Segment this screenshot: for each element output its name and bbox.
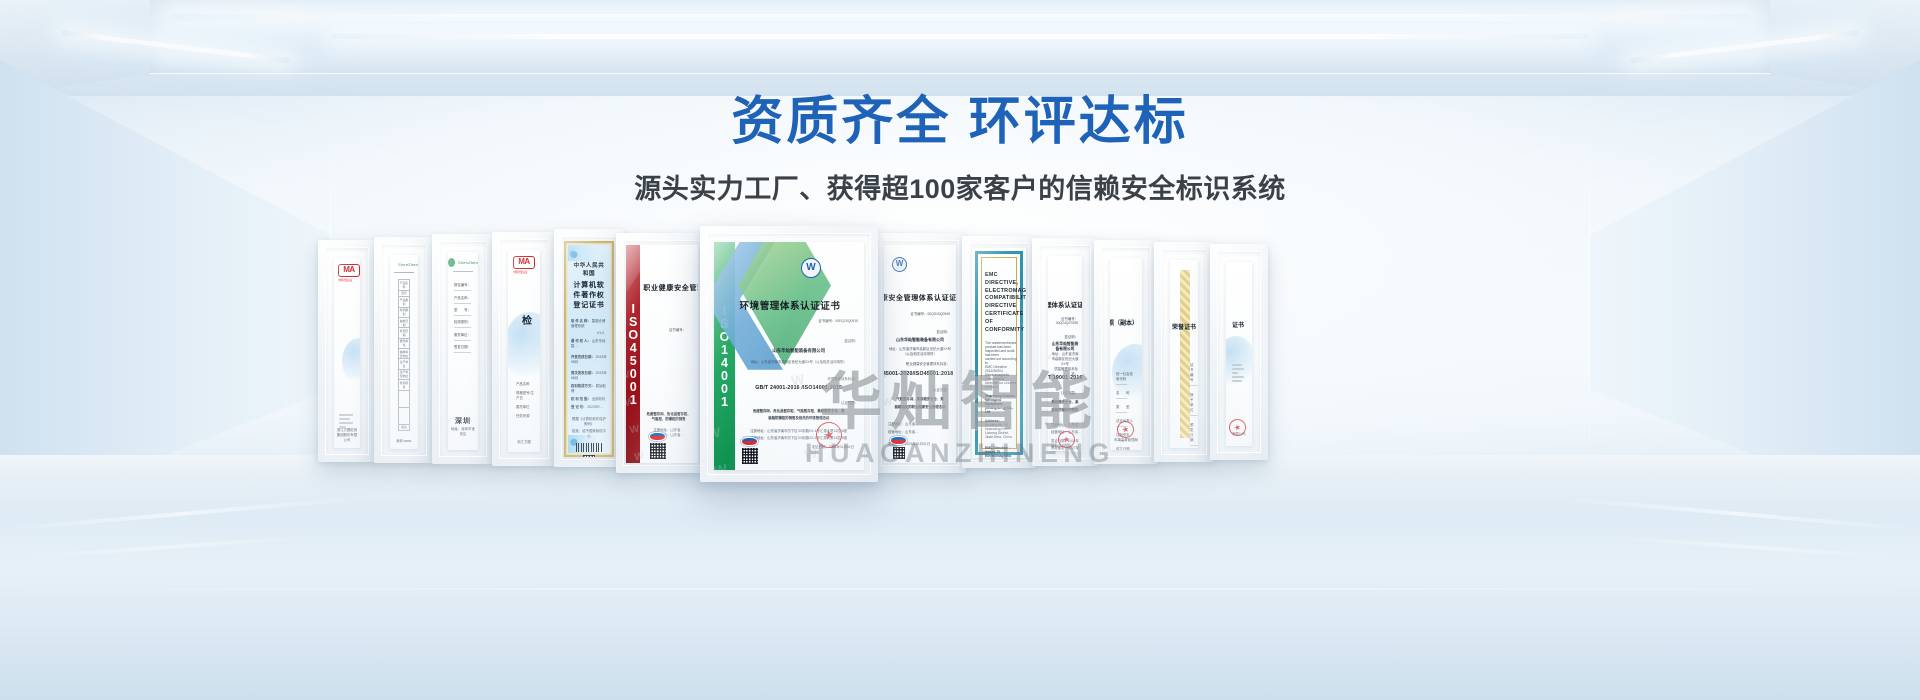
certificate-gold-ornate[interactable]: 荣誉证书 证书编号 ____ 授予单位 ____ 颁发日期 ____ 有效期限 … [1154,242,1214,462]
certificate-business-license[interactable]: 营业执照（副本） 统一社会信用代码 ______ 名 称 ______ 类 型 … [1094,240,1158,464]
page-title: 资质齐全 环评达标 [0,92,1920,153]
banner-text-block: 资质齐全 环评达标 源头实力工厂、获得超100家客户的信赖安全标识系统 [0,92,1920,206]
certificate-ce-emc-directive[interactable]: EMC DIRECTIVE, ELECTROMAGNETIC COMPATIBI… [962,236,1036,468]
test-field-table: 产品名称 型号 产品类别 检测类别 抽样日期 检测日期 委托单位 抽样单位地址 … [398,279,410,431]
certificate-iso9001-quality[interactable]: W W WW W WW W WW W WW W WW W W 质量管理体系认证证… [1032,238,1098,466]
certificate-software-copyright[interactable]: 中华人民共和国 计算机软件著作权登记证书 软 件 名 称： 智能仓储管理系统 V… [554,229,624,467]
qr-code-icon [742,448,758,464]
accreditation-logo-icon [649,432,666,441]
accreditation-logo-icon [890,436,907,445]
certificate-cma-inspection-zhejiang[interactable]: MA 中国计量认证 浙江方圆检测集团股份有限公司 [318,240,376,462]
hero-banner-stage: 资质齐全 环评达标 源头实力工厂、获得超100家客户的信赖安全标识系统 MA [0,0,1920,700]
qr-code-icon [650,443,666,459]
certificate-right-plain[interactable]: 证书 有限公司 ★ [1210,244,1268,460]
certificate-cma-inspection-report[interactable]: MA 中国计量认证 检 产品名称 规格型号/生产日 委托单位 任务来源 浙江方圆 [492,232,556,466]
cma-badge: MA 中国计量认证 [338,264,360,282]
qr-code-icon [583,455,595,457]
shenzhen-logo-icon-2 [448,258,455,267]
certificate-shenzhen-test-report-table[interactable]: ShenZhen 产品名称 型号 产品类别 检测类别 抽样日期 检测日期 委托单… [374,237,434,463]
certificate-iso14001-environmental[interactable]: ISO14001 W W WW W WW W WW W WW W WW W WW… [700,226,878,482]
certificate-shenzhen-inspection[interactable]: ShenZhen 报告编号： _________ 产品名称： _________… [432,234,494,464]
iso14001-title: 环境管理体系认证证书 [740,298,841,312]
certification-seal-icon: W [801,258,821,278]
iso45001-spine: ISO45001 [626,245,640,463]
certification-seal-icon: W [892,257,907,272]
accreditation-logo-icon [741,437,758,446]
certificate-iso45001[interactable]: ISO45001 W W WW W WW W WW W WW W WW W WW… [616,233,708,473]
page-subtitle: 源头实力工厂、获得超100家客户的信赖安全标识系统 [0,167,1920,206]
certificate-iso45001-ohs[interactable]: W W WW W WW W WW W WW W WW W WW W W W 职业… [874,233,966,473]
qr-code-icon [893,447,905,459]
